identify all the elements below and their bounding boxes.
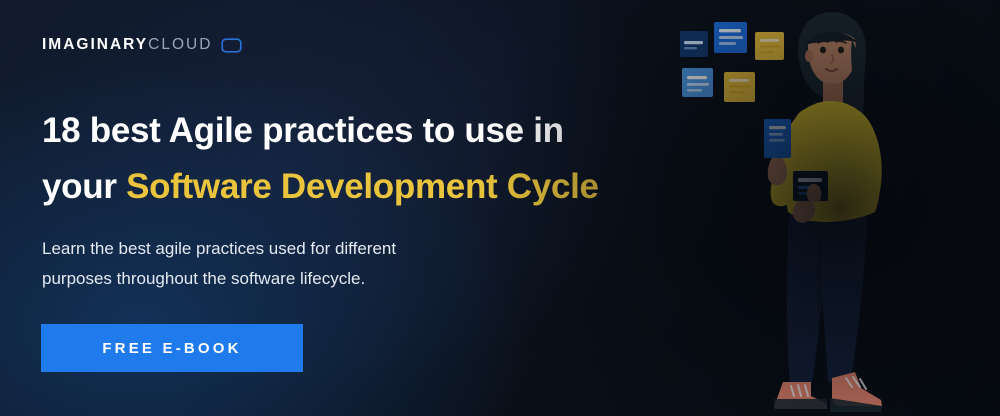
brand-logo-text: IMAGINARYCLOUD — [42, 34, 212, 56]
headline-line-1: 18 best Agile practices to use in — [42, 111, 564, 150]
woman-holding-cards-illustration — [660, 0, 1000, 416]
note-yellow-top — [755, 32, 784, 60]
page-title: 18 best Agile practices to use in your S… — [42, 103, 642, 215]
shoe-right — [830, 372, 882, 412]
subheading-line-1: Learn the best agile practices used for … — [42, 239, 396, 258]
sticky-note-group — [680, 22, 784, 102]
subheading-line-2: purposes throughout the software lifecyc… — [42, 269, 365, 288]
note-light-blue — [682, 68, 713, 97]
note-dark-blue — [680, 31, 708, 57]
note-bright-blue — [714, 22, 747, 53]
cloud-bubble-icon — [221, 38, 242, 53]
headline-line-2-plain: your — [42, 167, 126, 206]
brand-name-bold: IMAGINARY — [42, 36, 148, 53]
note-yellow-mid — [724, 72, 755, 102]
free-ebook-button[interactable]: FREE E-BOOK — [41, 324, 303, 372]
card-held-blue — [764, 119, 791, 158]
subheading: Learn the best agile practices used for … — [42, 234, 512, 294]
brand-logo[interactable]: IMAGINARYCLOUD — [42, 34, 242, 56]
promo-banner: IMAGINARYCLOUD 18 best Agile practices t… — [0, 0, 1000, 416]
brand-name-light: CLOUD — [148, 36, 212, 53]
headline-line-2-accent: Software Development Cycle — [126, 167, 599, 206]
shoe-left — [774, 382, 827, 409]
figure — [764, 12, 882, 412]
